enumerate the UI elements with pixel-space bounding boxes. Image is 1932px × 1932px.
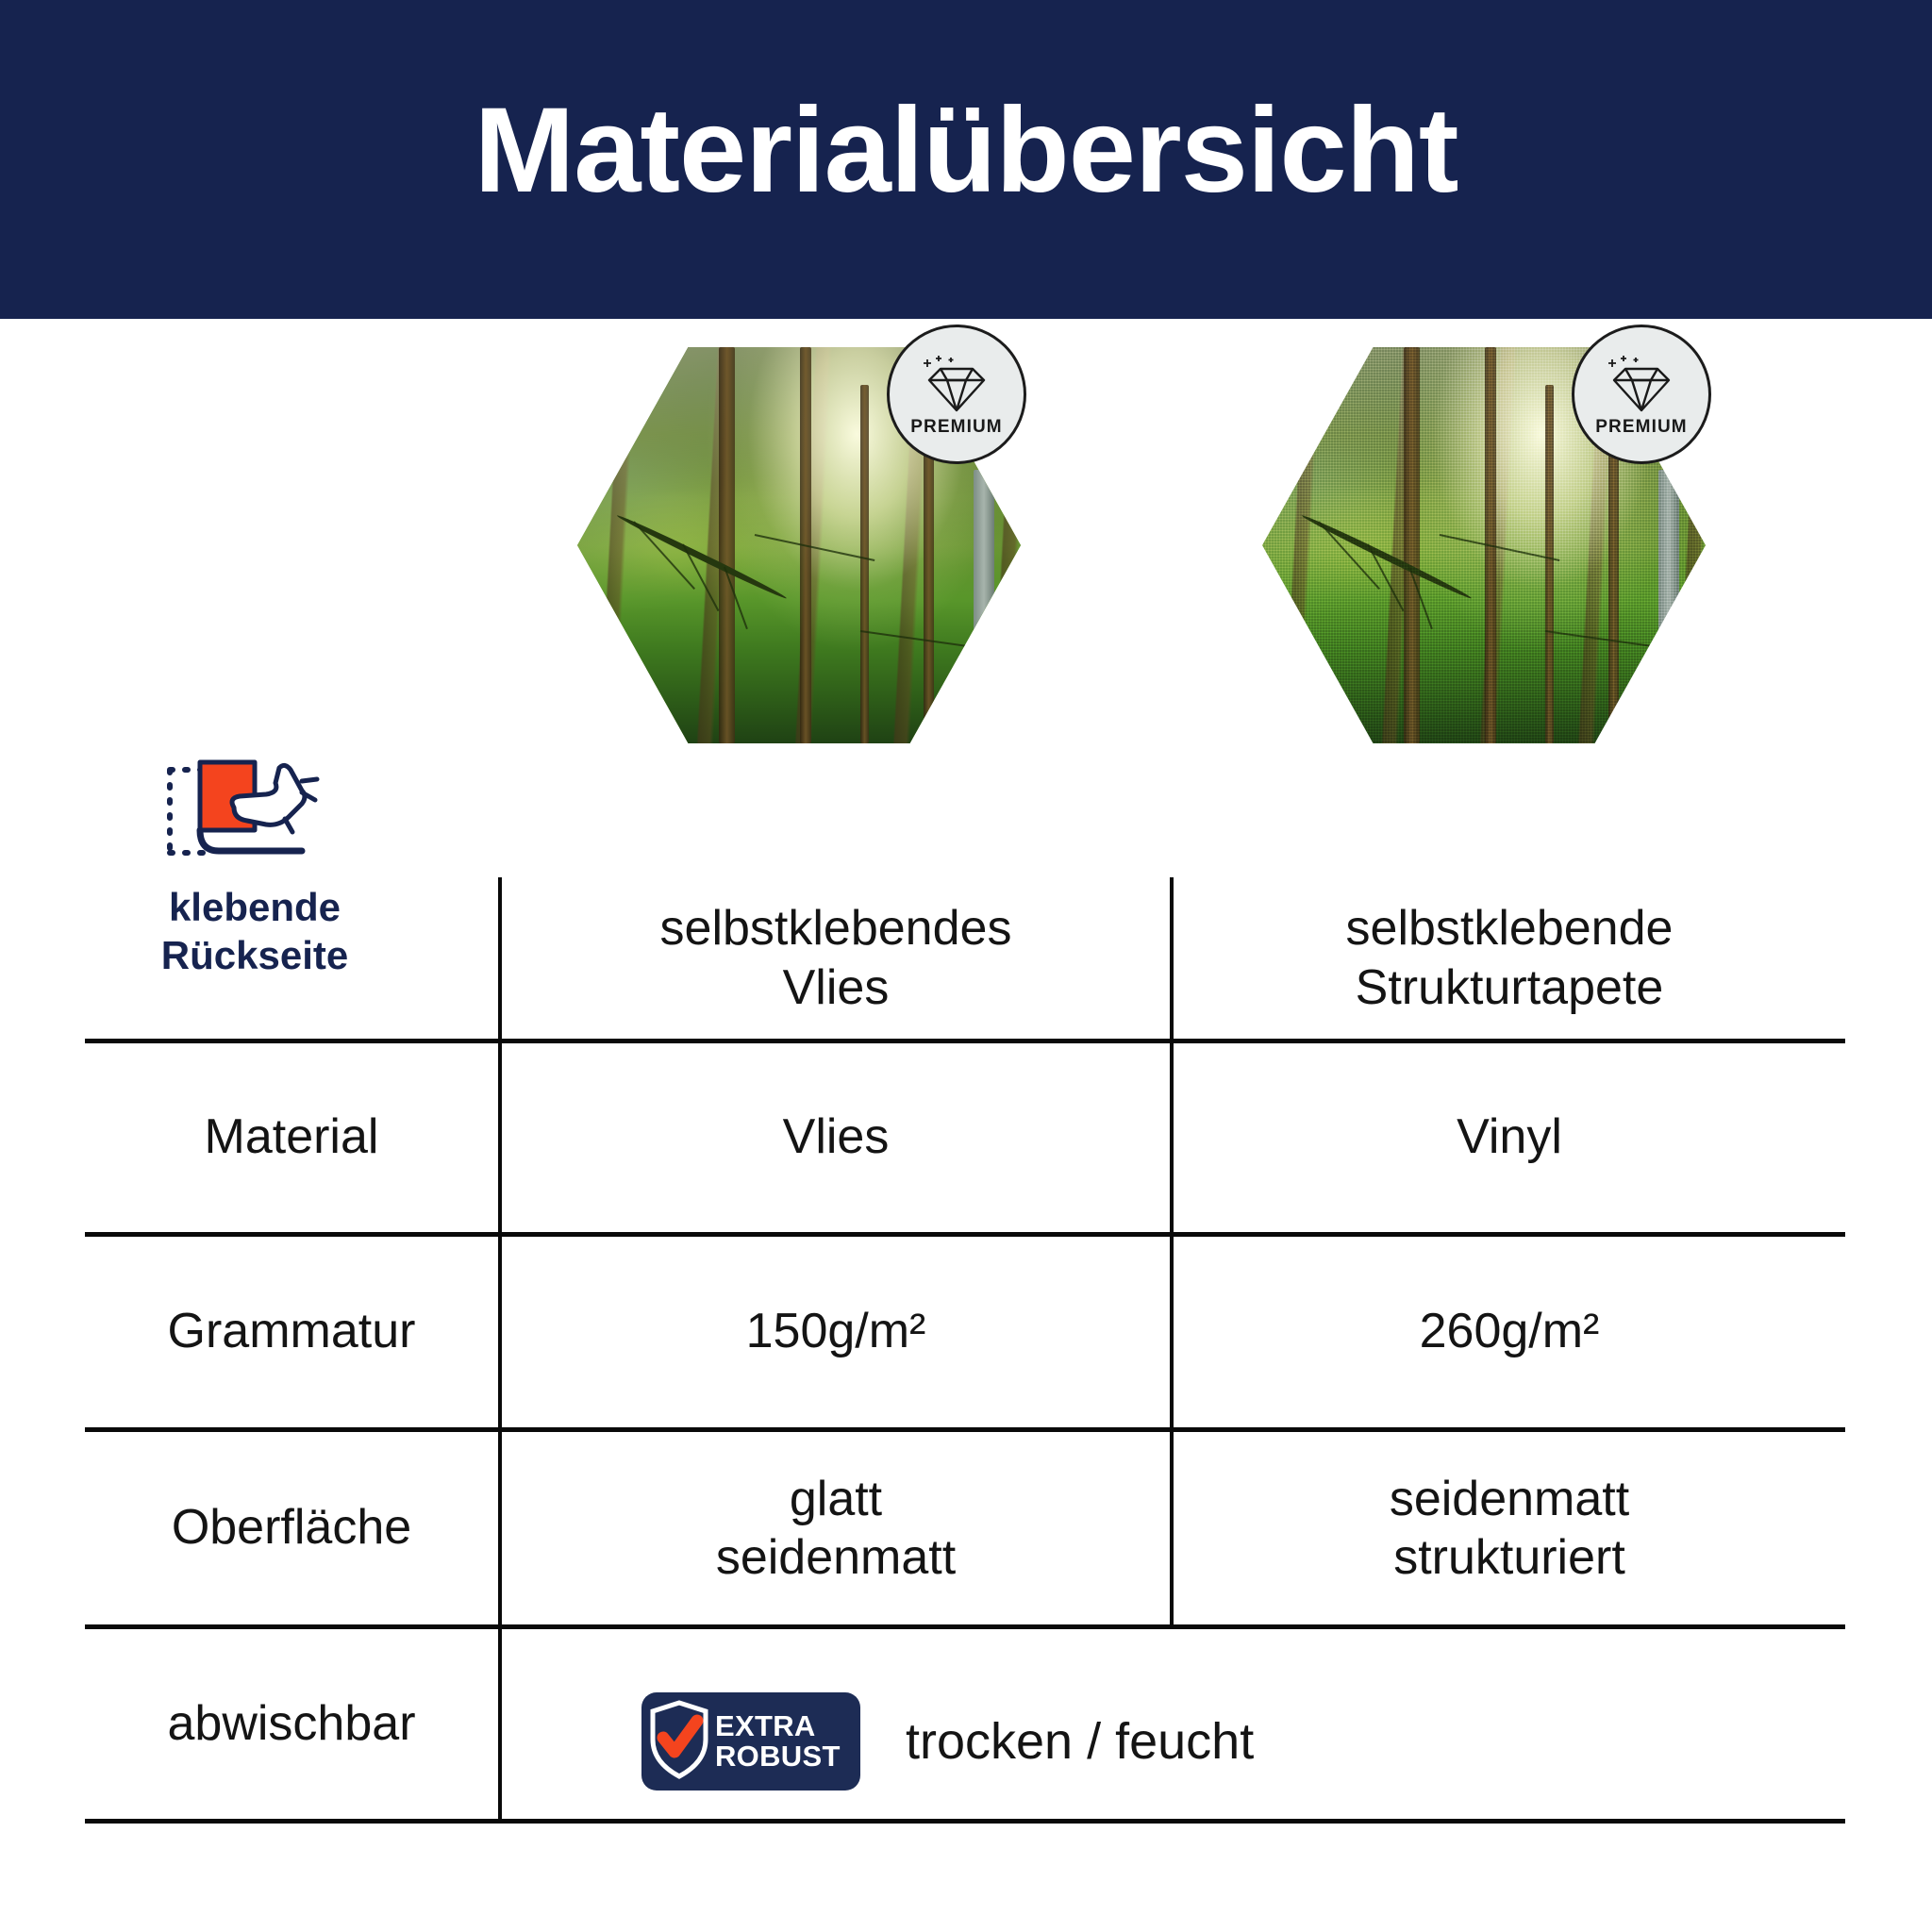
oberflaeche-col1-line2: seidenmatt xyxy=(716,1528,956,1587)
tree-trunk xyxy=(719,347,735,743)
table-bottom-border xyxy=(85,1819,1845,1824)
header-col1-line1: selbstklebendes xyxy=(660,899,1012,958)
peel-sticker-hand-icon xyxy=(160,755,349,872)
material-preview-1[interactable]: PREMIUM xyxy=(577,347,1021,743)
tree-branch xyxy=(615,512,788,601)
header-col2-line2: Strukturtapete xyxy=(1346,958,1674,1017)
cell-oberflaeche-col2: seidenmatt strukturiert xyxy=(1174,1432,1845,1624)
tree-trunk xyxy=(924,432,934,743)
oberflaeche-col2-line2: strukturiert xyxy=(1390,1528,1629,1587)
tree-twig xyxy=(633,521,695,590)
table-header-col2: selbstklebende Strukturtapete xyxy=(1174,877,1845,1039)
extra-robust-label: EXTRA ROBUST xyxy=(715,1711,841,1771)
premium-badge-label: PREMIUM xyxy=(1595,418,1687,436)
premium-badge-label: PREMIUM xyxy=(910,418,1002,436)
cell-abwischbar-value: trocken / feucht xyxy=(906,1692,1254,1790)
tree-trunk xyxy=(974,470,994,743)
header-col2-line1: selbstklebende xyxy=(1346,899,1674,958)
cell-oberflaeche-col1: glatt seidenmatt xyxy=(502,1432,1170,1624)
cell-material-col2: Vinyl xyxy=(1174,1043,1845,1232)
cell-grammatur-col1: 150g/m² xyxy=(502,1237,1170,1427)
material-preview-2[interactable]: PREMIUM xyxy=(1262,347,1706,743)
oberflaeche-col1-line1: glatt xyxy=(716,1470,956,1528)
cell-grammatur-col2: 260g/m² xyxy=(1174,1237,1845,1427)
diamond-icon xyxy=(920,354,993,416)
row-label-abwischbar: abwischbar xyxy=(85,1629,498,1819)
premium-badge: PREMIUM xyxy=(1572,325,1711,464)
oberflaeche-col2-line1: seidenmatt xyxy=(1390,1470,1629,1528)
cell-material-col1: Vlies xyxy=(502,1043,1170,1232)
tree-trunk xyxy=(860,385,869,743)
tree-twig xyxy=(755,534,875,561)
diamond-icon xyxy=(1605,354,1678,416)
extra-robust-line1: EXTRA xyxy=(715,1711,841,1741)
material-spec-table: selbstklebendes Vlies selbstklebende Str… xyxy=(85,877,1845,1821)
extra-robust-badge: EXTRA ROBUST xyxy=(641,1692,860,1790)
row-label-oberflaeche: Oberfläche xyxy=(85,1432,498,1624)
row-label-grammatur: Grammatur xyxy=(85,1237,498,1427)
table-header-col1: selbstklebendes Vlies xyxy=(502,877,1170,1039)
material-overview-page: Materialübersicht xyxy=(0,0,1932,1932)
extra-robust-line2: ROBUST xyxy=(715,1741,841,1772)
page-title: Materialübersicht xyxy=(0,0,1932,319)
shield-check-icon xyxy=(649,1700,709,1784)
premium-badge: PREMIUM xyxy=(887,325,1026,464)
header-col1-line2: Vlies xyxy=(660,958,1012,1017)
row-label-material: Material xyxy=(85,1043,498,1232)
